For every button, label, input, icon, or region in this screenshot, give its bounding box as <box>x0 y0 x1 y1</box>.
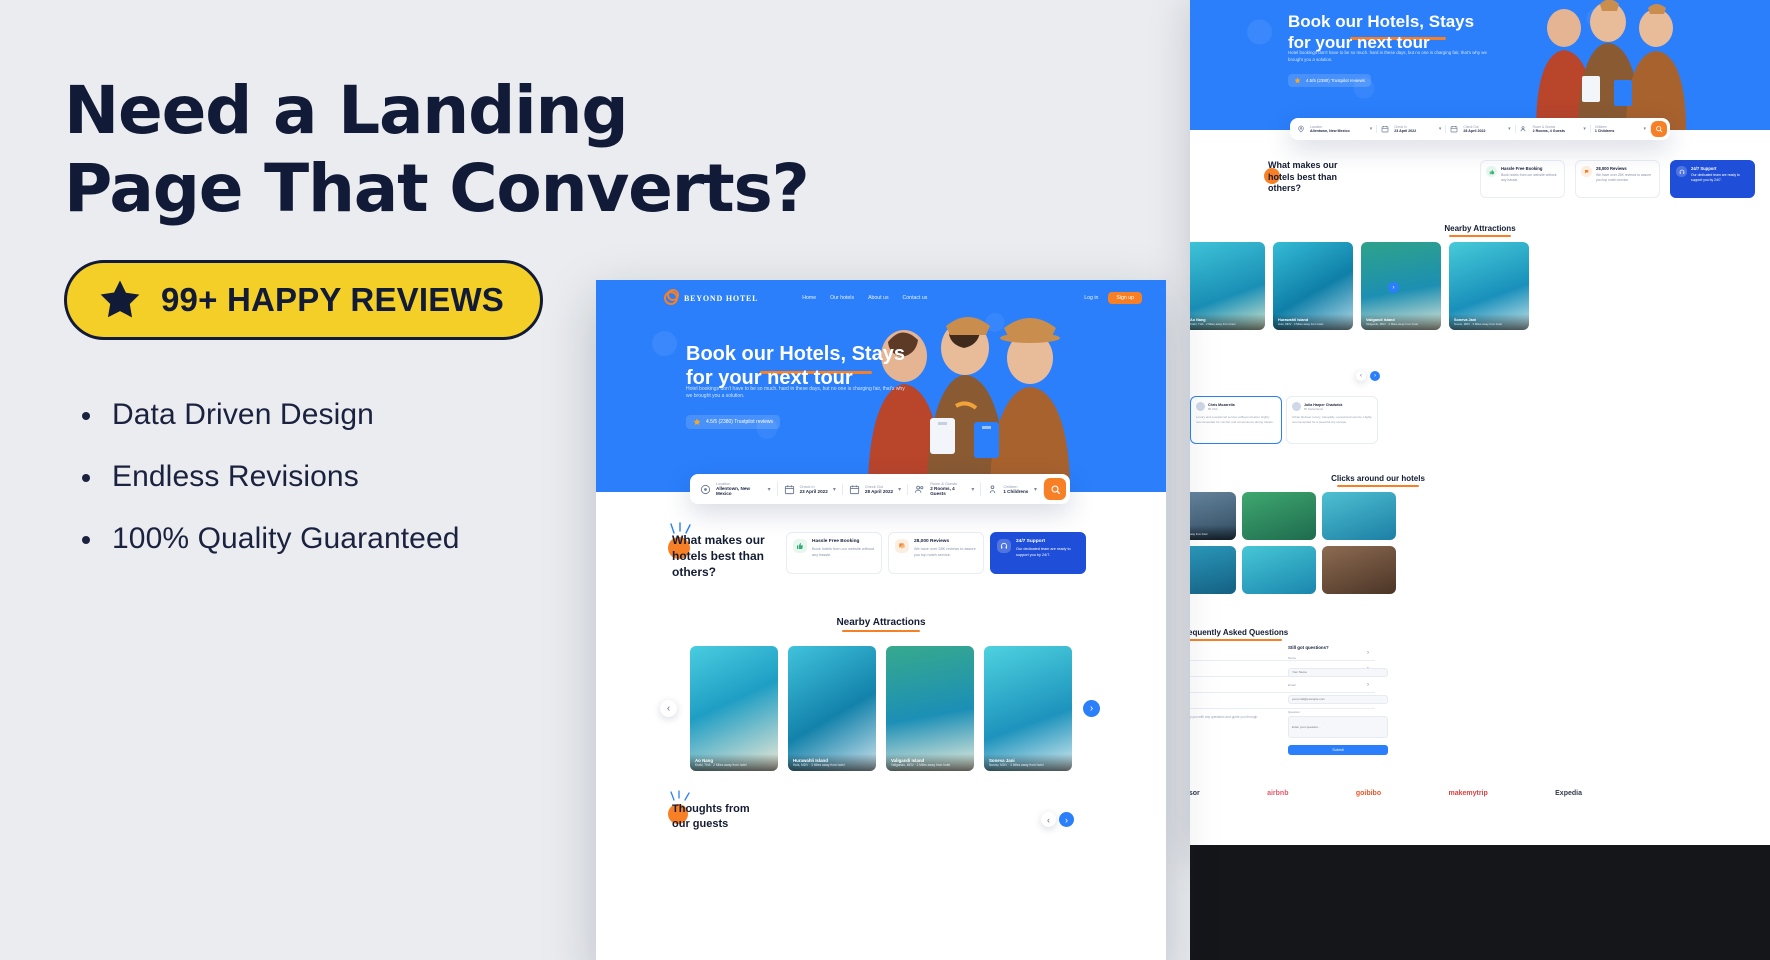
reviews-next-button-back[interactable]: › <box>1370 371 1380 381</box>
field-label: Question <box>1288 710 1388 714</box>
attractions-prev-button[interactable]: ‹ <box>660 700 677 717</box>
feature-card-support[interactable]: 24/7 Support Our dedicated team are read… <box>990 532 1086 574</box>
guests-next-button[interactable]: › <box>1059 812 1074 827</box>
faq-form-title: Still got questions? <box>1288 645 1388 650</box>
partner-logos-back: Tripadvisor airbnb goibibo makemytrip Ex… <box>1190 790 1582 797</box>
review-text: Luxury and exceptional service at Beyond… <box>1196 415 1276 424</box>
page-title: Need a Landing Page That Converts? <box>64 72 824 228</box>
guests-prev-button[interactable]: ‹ <box>1041 812 1056 827</box>
attraction-card[interactable]: Soneva JaniNoonu, MDV · 3 Miles away fro… <box>1449 242 1529 330</box>
gallery-grid-back: Eiffel TowerParis, FR · 2 Miles away fro… <box>1190 492 1396 594</box>
features-title-line-3: others? <box>1268 183 1301 193</box>
attraction-sub: Noonu, MDV · 3 Miles away from hotel <box>989 763 1067 767</box>
avatar <box>1196 402 1205 411</box>
submit-button[interactable]: Submit <box>1288 745 1388 755</box>
attraction-sub: Krabi, THA · 2 Miles away from hotel <box>1190 322 1260 326</box>
attractions-title: Nearby Attractions <box>836 617 925 628</box>
chevron-down-icon[interactable]: ▾ <box>898 486 901 493</box>
reviews-prev-button-back[interactable]: ‹ <box>1356 371 1366 381</box>
login-link[interactable]: Log in <box>1084 295 1098 301</box>
attraction-card[interactable]: Ao NangKrabi, THA · 2 Miles away from ho… <box>1190 242 1265 330</box>
nav-item-home[interactable]: Home <box>802 295 816 301</box>
name-field[interactable] <box>1288 668 1388 677</box>
nav-item-our-hotels[interactable]: Our hotels <box>830 295 854 301</box>
gallery-item[interactable] <box>1322 492 1396 540</box>
hero-title-front: Book our Hotels, Stays for your next tou… <box>686 342 986 391</box>
mockup-footer-bar <box>1190 845 1770 960</box>
features-title-line-2: hotels best than <box>672 549 764 563</box>
search-value: 1 Childrens <box>1595 129 1639 133</box>
search-value: 28 April 2022 <box>865 489 893 494</box>
feature-desc: We have over 28K reviews to assure you t… <box>1596 173 1654 183</box>
feature-title: 24/7 Support <box>1016 539 1079 544</box>
search-icon <box>1655 125 1663 133</box>
search-value: 2 Rooms, 4 Guests <box>930 486 966 496</box>
star-icon <box>97 277 143 323</box>
chevron-down-icon[interactable]: ▾ <box>833 486 836 493</box>
faq-title: Frequently Asked Questions <box>1190 628 1288 637</box>
chevron-down-icon[interactable]: ▾ <box>971 486 974 493</box>
feature-title: 28,000 Reviews <box>914 539 977 544</box>
hero-paragraph-back: Hotel bookings don't have to be so much.… <box>1288 50 1493 63</box>
gallery-item[interactable] <box>1242 546 1316 594</box>
location-pin-icon <box>700 484 711 495</box>
hotel-site-mockup-full[interactable]: Book our Hotels, Stays for your next tou… <box>1190 0 1770 845</box>
mockup-hero-back: Book our Hotels, Stays for your next tou… <box>1190 0 1770 130</box>
search-value: Allentown, New Mexico <box>1310 129 1365 133</box>
headline-line-1: Need a Landing <box>64 72 627 149</box>
feature-desc: We have over 28K reviews to assure you t… <box>914 547 977 558</box>
clicks-title: Clicks around our hotels <box>1331 474 1425 483</box>
clicks-heading-back: Clicks around our hotels <box>1190 468 1568 486</box>
attraction-sub: Valigandu, MDV · 2 Miles away from hotel <box>891 763 969 767</box>
attraction-card[interactable]: Valigandi IslandValigandu, MDV · 2 Miles… <box>1361 242 1441 330</box>
feature-card-support-back[interactable]: 24/7 Support Our dedicated team are read… <box>1670 160 1755 198</box>
partner-logo-airbnb: airbnb <box>1267 790 1288 797</box>
hero-title-back: Book our Hotels, Stays for your next tou… <box>1288 12 1728 53</box>
review-card-back[interactable]: Chris Mozarella 80 USA Luxury and except… <box>1190 396 1282 444</box>
feature-card-reviews[interactable]: 28,000 Reviews We have over 28K reviews … <box>888 532 984 574</box>
search-field-checkout[interactable]: Check Out 28 April 2022 ▾ <box>843 484 908 495</box>
attraction-sub: Huls, MDV · 3 Miles away from hotel <box>793 763 871 767</box>
feature-desc: Our dedicated team are ready to support … <box>1016 547 1079 558</box>
attraction-card[interactable]: Ao NangKrabi, THA · 2 Miles away from ho… <box>690 646 778 771</box>
review-name: Chris Mozarella <box>1208 403 1235 407</box>
attractions-next-button[interactable]: › <box>1083 700 1100 717</box>
brand-logo[interactable]: BEYOND HOTEL <box>664 291 758 305</box>
reviews-icon <box>1581 166 1592 177</box>
search-button[interactable] <box>1044 478 1066 500</box>
features-title-line-1: What makes our <box>1268 160 1338 170</box>
booking-search-bar-front[interactable]: Location Allentown, New Mexico ▾ Check I… <box>690 474 1070 504</box>
feature-card-hassle-free[interactable]: Hassle Free Booking Book hotels from our… <box>786 532 882 574</box>
attraction-card[interactable]: Hurawahli IslandHuls, MDV · 3 Miles away… <box>1273 242 1353 330</box>
attractions-heading-back: Nearby Attractions <box>1190 218 1770 236</box>
features-title-line-1: What makes our <box>672 533 765 547</box>
search-value: 23 April 2022 <box>800 489 828 494</box>
children-icon <box>987 484 998 495</box>
features-title-line-3: others? <box>672 565 716 579</box>
chevron-down-icon[interactable]: ▾ <box>1508 126 1511 132</box>
nav-item-contact-us[interactable]: Contact us <box>903 295 928 301</box>
attractions-next-button-back[interactable]: › <box>1388 282 1399 293</box>
review-name: Julia Harper Chadwick <box>1304 403 1343 407</box>
nav-item-about-us[interactable]: About us <box>868 295 888 301</box>
search-value: Allentown, New Mexico <box>716 486 763 496</box>
calendar-icon <box>849 484 860 495</box>
signup-button[interactable]: Sign up <box>1108 292 1142 304</box>
question-field[interactable] <box>1288 716 1388 738</box>
partner-logo-tripadvisor: Tripadvisor <box>1190 790 1200 797</box>
guests-title-line-1: Thoughts from <box>672 803 750 815</box>
attractions-title: Nearby Attractions <box>1444 224 1515 233</box>
attraction-sub: Krabi, THA · 2 Miles away from hotel <box>695 763 773 767</box>
chevron-down-icon[interactable]: ▾ <box>1034 486 1037 493</box>
headline-line-2: Page That Converts? <box>64 150 809 227</box>
hero-paragraph-front: Hotel bookings don't have to be so much.… <box>686 386 906 401</box>
hotel-site-mockup-front[interactable]: BEYOND HOTEL Home Our hotels About us Co… <box>596 280 1166 960</box>
search-value: 23 April 2022 <box>1394 129 1434 133</box>
star-icon <box>693 418 701 426</box>
search-field-location[interactable]: Location Allentown, New Mexico ▾ <box>694 482 778 496</box>
review-text: Urban Retreat: luxury, tranquility, exce… <box>1292 415 1372 424</box>
search-value: 1 Childrens <box>1003 489 1029 494</box>
thumbs-up-icon <box>1486 166 1497 177</box>
trust-rating-back: 4.5/5 (2380) Trustpilot reviews <box>1288 74 1371 87</box>
search-field-rooms[interactable]: Room & Guests 2 Rooms, 4 Guests ▾ <box>908 482 981 496</box>
features-title-front: What makes our hotels best than others? <box>672 532 802 581</box>
partner-logo-expedia: Expedia <box>1555 790 1582 797</box>
chevron-down-icon[interactable]: ▾ <box>1643 126 1646 132</box>
chevron-down-icon[interactable]: ▾ <box>1583 126 1586 132</box>
search-field-checkin-back[interactable]: Check In 23 April 2022 ▾ <box>1377 125 1446 133</box>
star-icon <box>1294 77 1301 84</box>
faq-form-back: Still got questions? Name Email Question… <box>1288 645 1388 755</box>
search-icon <box>1050 484 1061 495</box>
search-field-location-back[interactable]: Location Allentown, New Mexico ▾ <box>1293 125 1377 133</box>
search-field-rooms-back[interactable]: Room & Guests 2 Rooms, 4 Guests ▾ <box>1516 125 1591 133</box>
attraction-cards-front: Ao NangKrabi, THA · 2 Miles away from ho… <box>690 646 1072 771</box>
trust-rating-front: 4.5/5 (2380) Trustpilot reviews <box>686 415 780 429</box>
partner-logo-goibibo: goibibo <box>1356 790 1381 797</box>
search-field-children[interactable]: Children 1 Childrens ▾ <box>981 484 1044 495</box>
features-title-back: What makes our hotels best than others? <box>1268 160 1468 195</box>
guests-title-line-2: our guests <box>672 818 728 830</box>
feature-title: 24/7 Support <box>1691 166 1749 171</box>
gallery-item[interactable] <box>1322 546 1396 594</box>
partner-logo-makemytrip: makemytrip <box>1448 790 1487 797</box>
feature-title: Hassle Free Booking <box>1501 166 1559 171</box>
faq-heading-back: Frequently Asked Questions <box>1190 622 1288 640</box>
attractions-heading-front: Nearby Attractions <box>596 612 1166 630</box>
feature-desc: Book hotels from our website without any… <box>1501 173 1559 183</box>
location-pin-icon <box>1297 125 1305 133</box>
features-title-line-2: hotels best than <box>1268 172 1337 182</box>
search-button-back[interactable] <box>1651 121 1667 137</box>
mockup-navbar[interactable]: BEYOND HOTEL Home Our hotels About us Co… <box>596 280 1166 305</box>
guests-heading-front: Thoughts from our guests <box>672 802 822 832</box>
brand-mark-icon <box>664 291 678 305</box>
gallery-item[interactable] <box>1242 492 1316 540</box>
gallery-item[interactable] <box>1190 546 1236 594</box>
attraction-card[interactable]: Hurawahli IslandHuls, MDV · 3 Miles away… <box>788 646 876 771</box>
feature-desc: Book hotels from our website without any… <box>812 547 875 558</box>
chevron-down-icon[interactable]: ▾ <box>768 486 771 493</box>
feature-title: Hassle Free Booking <box>812 539 875 544</box>
hero-title-line-1: Book our Hotels, Stays <box>686 343 905 365</box>
thumbs-up-icon <box>793 539 807 553</box>
attraction-sub: Huls, MDV · 3 Miles away from hotel <box>1278 322 1348 326</box>
gallery-sub: Paris, FR · 2 Miles away from hotel <box>1190 533 1231 536</box>
attraction-sub: Noonu, MDV · 3 Miles away from hotel <box>1454 322 1524 326</box>
guests-icon <box>1520 125 1528 133</box>
reviews-badge[interactable]: 99+ HAPPY REVIEWS <box>64 260 543 340</box>
calendar-icon <box>1450 125 1458 133</box>
reviews-icon <box>895 539 909 553</box>
calendar-icon <box>784 484 795 495</box>
guests-icon <box>914 484 925 495</box>
field-label: Name <box>1288 656 1388 660</box>
chevron-down-icon[interactable]: ▾ <box>1439 126 1442 132</box>
mockup-hero-front: BEYOND HOTEL Home Our hotels About us Co… <box>596 280 1166 492</box>
search-field-children-back[interactable]: Children 1 Childrens ▾ <box>1591 125 1651 133</box>
chevron-down-icon[interactable]: ▾ <box>1370 126 1373 132</box>
email-field[interactable] <box>1288 695 1388 704</box>
attraction-sub: Valigandu, MDV · 2 Miles away from hotel <box>1366 322 1436 326</box>
reviews-badge-label: 99+ HAPPY REVIEWS <box>161 281 504 319</box>
support-icon <box>1676 166 1687 177</box>
avatar <box>1292 402 1301 411</box>
search-value: 28 April 2022 <box>1463 129 1503 133</box>
review-meta: 80 USA <box>1208 407 1235 411</box>
support-icon <box>997 539 1011 553</box>
trust-rating-text: 4.5/5 (2380) Trustpilot reviews <box>706 419 773 425</box>
field-label: Email <box>1288 683 1388 687</box>
attraction-card[interactable]: Valigandi IslandValigandu, MDV · 2 Miles… <box>886 646 974 771</box>
feature-desc: Our dedicated team are ready to support … <box>1691 173 1749 183</box>
review-meta: 80 Netherlands <box>1304 407 1343 411</box>
attraction-card[interactable]: Soneva JaniNoonu, MDV · 3 Miles away fro… <box>984 646 1072 771</box>
search-value: 2 Rooms, 4 Guests <box>1533 129 1579 133</box>
calendar-icon <box>1381 125 1389 133</box>
hero-title-line-1: Book our Hotels, Stays <box>1288 12 1474 31</box>
search-field-checkout-back[interactable]: Check Out 28 April 2022 ▾ <box>1446 125 1515 133</box>
booking-search-bar-back[interactable]: Location Allentown, New Mexico ▾ Check I… <box>1290 118 1670 140</box>
brand-name: BEYOND HOTEL <box>684 294 758 303</box>
attraction-cards-back: Ao NangKrabi, THA · 2 Miles away from ho… <box>1190 242 1529 330</box>
nav-links[interactable]: Home Our hotels About us Contact us <box>802 295 927 301</box>
feature-title: 28,000 Reviews <box>1596 166 1654 171</box>
feature-card-hassle-free-back[interactable]: Hassle Free Booking Book hotels from our… <box>1480 160 1565 198</box>
trust-rating-text: 4.5/5 (2380) Trustpilot reviews <box>1306 78 1365 83</box>
review-card-back[interactable]: Julia Harper Chadwick 80 Netherlands Urb… <box>1286 396 1378 444</box>
gallery-item[interactable]: Eiffel TowerParis, FR · 2 Miles away fro… <box>1190 492 1236 540</box>
search-field-checkin[interactable]: Check In 23 April 2022 ▾ <box>778 484 843 495</box>
hero-title-line-2: for your next tour <box>1288 33 1430 52</box>
feature-card-reviews-back[interactable]: 28,000 Reviews We have over 28K reviews … <box>1575 160 1660 198</box>
